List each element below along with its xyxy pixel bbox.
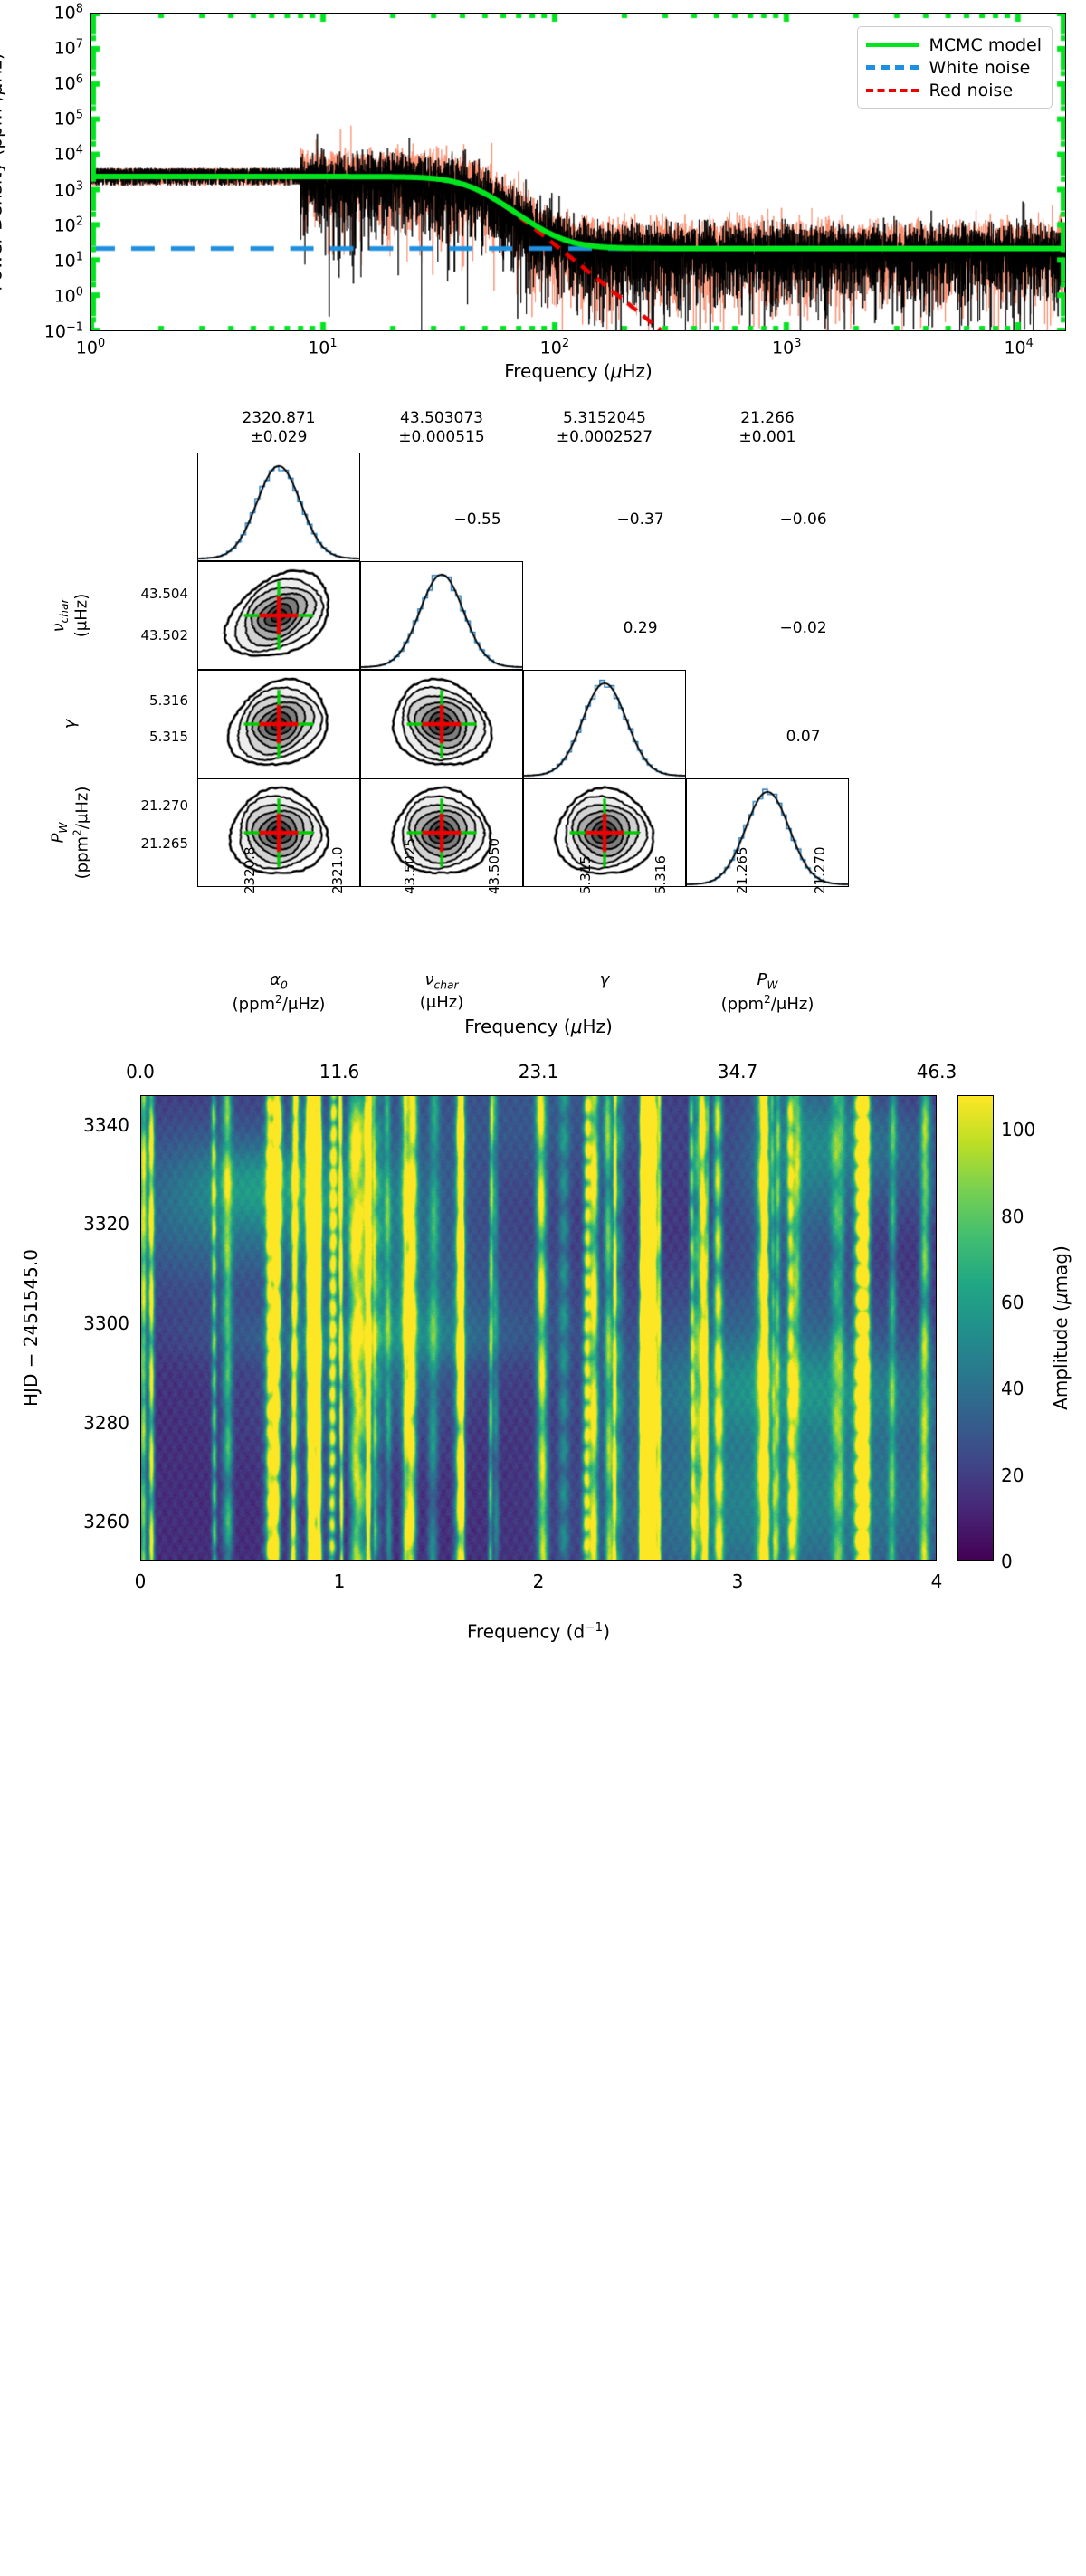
colorbar-tick: 0 xyxy=(1001,1550,1013,1572)
power-spectrum-panel: 10−1100101102103104105106107108 Power De… xyxy=(0,0,1086,389)
psd-y-tick: 103 xyxy=(54,179,83,200)
corner-x-tick: 21.270 xyxy=(812,847,828,895)
heatmap-bottom-tick: 1 xyxy=(334,1570,346,1592)
corner-histogram-1 xyxy=(360,561,523,670)
corner-x-tick: 43.5025 xyxy=(402,838,418,894)
corner-y-tick: 5.315 xyxy=(0,729,188,745)
corner-header-value: 21.266 xyxy=(686,409,849,428)
corner-contour-canvas xyxy=(361,671,522,778)
colorbar-label: Amplitude (μmag) xyxy=(1050,1245,1072,1410)
legend-entry-mcmc-model: MCMC model xyxy=(866,33,1042,56)
psd-legend: MCMC model White noise Red noise xyxy=(857,26,1053,109)
corner-x-tick: 43.5050 xyxy=(486,838,502,894)
colorbar xyxy=(957,1095,994,1561)
corner-y-tick: 43.502 xyxy=(0,627,188,644)
corner-x-tick: 5.315 xyxy=(577,855,594,894)
heatmap-canvas xyxy=(141,1096,936,1560)
legend-label-white-noise: White noise xyxy=(929,58,1030,78)
corner-header-1: 43.503073±0.000515 xyxy=(360,409,523,448)
corner-contour-1-0 xyxy=(197,561,360,670)
corner-header-error: ±0.000515 xyxy=(360,428,523,447)
corner-x-axis-label-2: γ xyxy=(600,970,610,991)
corner-histogram-canvas xyxy=(198,453,359,560)
heatmap-top-axis-label: Frequency (μHz) xyxy=(464,1016,613,1037)
psd-x-tick: 102 xyxy=(540,337,569,358)
heatmap-bottom-tick: 2 xyxy=(533,1570,545,1592)
corner-correlation-0-2: −0.37 xyxy=(617,510,664,529)
legend-swatch-red-noise xyxy=(866,89,919,92)
heatmap-plot-area xyxy=(140,1095,937,1561)
corner-header-error: ±0.0002527 xyxy=(523,428,686,447)
psd-x-tick: 100 xyxy=(76,337,105,358)
psd-x-tick: 101 xyxy=(308,337,337,358)
corner-correlation-1-2: 0.29 xyxy=(624,619,658,637)
corner-x-tick: 2320.8 xyxy=(242,847,258,895)
corner-contour-canvas xyxy=(198,562,359,669)
corner-header-error: ±0.001 xyxy=(686,428,849,447)
legend-swatch-white-noise xyxy=(866,65,919,70)
corner-histogram-2 xyxy=(523,670,686,778)
psd-y-tick: 107 xyxy=(54,37,83,58)
corner-contour-canvas xyxy=(198,671,359,778)
heatmap-y-tick: 3300 xyxy=(36,1312,129,1334)
corner-contour-2-1 xyxy=(360,670,523,778)
corner-plot-grid xyxy=(197,453,849,887)
corner-header-value: 2320.871 xyxy=(197,409,360,428)
heatmap-top-tick: 11.6 xyxy=(319,1061,360,1083)
heatmap-bottom-tick: 4 xyxy=(931,1570,943,1592)
legend-entry-white-noise: White noise xyxy=(866,56,1042,79)
corner-header-error: ±0.029 xyxy=(197,428,360,447)
colorbar-gradient xyxy=(957,1095,994,1561)
corner-histogram-canvas xyxy=(524,671,685,778)
corner-y-axis-label-2: γ xyxy=(61,720,81,730)
colorbar-tick: 100 xyxy=(1001,1119,1035,1140)
legend-swatch-mcmc-model xyxy=(866,43,919,47)
corner-correlation-0-1: −0.55 xyxy=(454,510,501,529)
corner-header-value: 43.503073 xyxy=(360,409,523,428)
corner-histogram-canvas xyxy=(361,562,522,669)
heatmap-top-tick: 34.7 xyxy=(718,1061,758,1083)
psd-plot-area: MCMC model White noise Red noise xyxy=(90,13,1066,331)
heatmap-y-tick: 3340 xyxy=(36,1114,129,1136)
corner-x-tick: 21.265 xyxy=(734,847,750,895)
corner-correlation-1-3: −0.02 xyxy=(780,619,827,637)
corner-histogram-0 xyxy=(197,453,360,561)
heatmap-bottom-axis-label: Frequency (d−1) xyxy=(467,1620,610,1643)
corner-y-axis-label-1: νchar(μHz) xyxy=(49,594,91,637)
corner-x-tick: 2321.0 xyxy=(329,847,346,895)
legend-label-mcmc-model: MCMC model xyxy=(929,35,1042,55)
corner-y-tick: 43.504 xyxy=(0,586,188,602)
psd-y-tick: 108 xyxy=(54,2,83,23)
legend-entry-red-noise: Red noise xyxy=(866,79,1042,101)
corner-y-tick: 21.265 xyxy=(0,835,188,852)
corner-y-tick: 5.316 xyxy=(0,692,188,709)
colorbar-tick: 60 xyxy=(1001,1292,1024,1313)
corner-header-0: 2320.871±0.029 xyxy=(197,409,360,448)
heatmap-y-tick: 3280 xyxy=(36,1412,129,1434)
colorbar-tick: 40 xyxy=(1001,1378,1024,1399)
heatmap-y-axis-label: HJD − 2451545.0 xyxy=(20,1249,42,1407)
corner-correlation-0-3: −0.06 xyxy=(780,510,827,529)
psd-x-tick: 104 xyxy=(1004,337,1033,358)
corner-x-tick: 5.316 xyxy=(653,855,669,894)
psd-y-tick: 105 xyxy=(54,109,83,129)
colorbar-tick: 80 xyxy=(1001,1206,1024,1227)
psd-y-tick: 101 xyxy=(54,250,83,271)
heatmap-y-tick: 3260 xyxy=(36,1511,129,1532)
legend-label-red-noise: Red noise xyxy=(929,81,1013,100)
psd-y-tick: 102 xyxy=(54,215,83,235)
heatmap-bottom-tick: 0 xyxy=(135,1570,147,1592)
psd-x-tick: 103 xyxy=(772,337,801,358)
corner-header-2: 5.3152045±0.0002527 xyxy=(523,409,686,448)
heatmap-top-tick: 23.1 xyxy=(519,1061,559,1083)
corner-y-tick: 21.270 xyxy=(0,797,188,814)
heatmap-top-tick: 0.0 xyxy=(126,1061,155,1083)
psd-x-axis-label: Frequency (μHz) xyxy=(504,360,653,382)
psd-y-tick: 100 xyxy=(54,285,83,306)
corner-header-value: 5.3152045 xyxy=(523,409,686,428)
heatmap-bottom-tick: 3 xyxy=(732,1570,744,1592)
time-frequency-panel: Frequency (μHz) 0.011.623.134.746.3 3260… xyxy=(0,996,1086,2576)
psd-y-tick: 104 xyxy=(54,144,83,165)
psd-y-axis-label: Power Density (ppm2/μHz) xyxy=(0,52,5,291)
corner-header-3: 21.266±0.001 xyxy=(686,409,849,448)
psd-y-tick: 106 xyxy=(54,73,83,94)
heatmap-y-tick: 3320 xyxy=(36,1213,129,1235)
corner-plot-panel: 2320.871±0.02943.503073±0.0005155.315204… xyxy=(0,389,1086,996)
heatmap-top-tick: 46.3 xyxy=(917,1061,957,1083)
colorbar-tick: 20 xyxy=(1001,1465,1024,1486)
corner-contour-2-0 xyxy=(197,670,360,778)
corner-y-axis-label-3: PW(ppm2/μHz) xyxy=(48,787,92,880)
corner-correlation-2-3: 0.07 xyxy=(786,728,821,746)
psd-y-tick-labels: 10−1100101102103104105106107108 xyxy=(0,0,83,389)
